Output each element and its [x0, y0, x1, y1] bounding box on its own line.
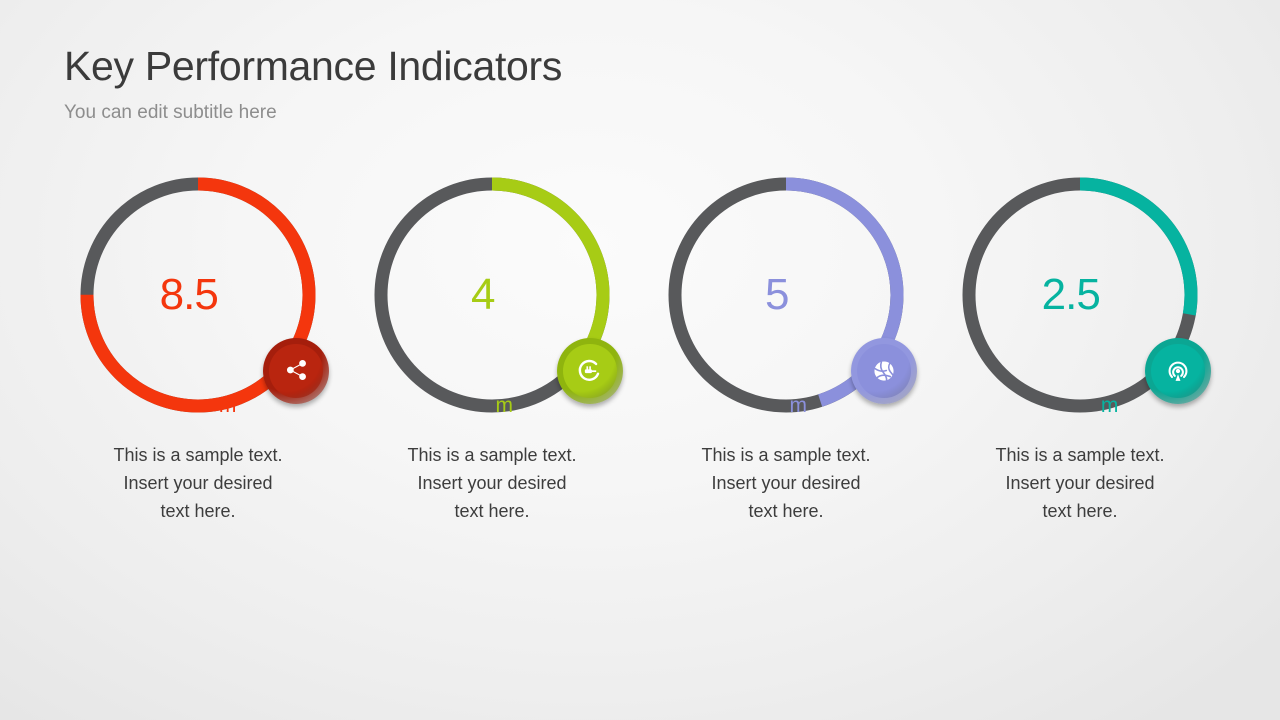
- kpi-badge-2[interactable]: [557, 338, 623, 404]
- caption-line: Insert your desired: [661, 470, 911, 498]
- kpi-card-4[interactable]: 2.5 m This is a sample t: [933, 170, 1227, 526]
- donut-gauge-4[interactable]: 2.5 m: [955, 170, 1205, 420]
- caption-line: Insert your desired: [367, 470, 617, 498]
- page-title: Key Performance Indicators: [64, 44, 562, 90]
- kpi-caption-2: This is a sample text. Insert your desir…: [367, 442, 617, 526]
- kpi-row: 8.5 m This is a sample text. Insert your…: [0, 170, 1280, 526]
- donut-gauge-2[interactable]: 4 m: [367, 170, 617, 420]
- kpi-card-2[interactable]: 4 m: [345, 170, 639, 526]
- kpi-card-1[interactable]: 8.5 m This is a sample text. Insert your…: [51, 170, 345, 526]
- power-plug-icon: [575, 356, 605, 386]
- kpi-badge-1[interactable]: [263, 338, 329, 404]
- caption-line: Insert your desired: [73, 470, 323, 498]
- caption-line: text here.: [955, 498, 1205, 526]
- page-subtitle: You can edit subtitle here: [64, 102, 562, 124]
- badge-inner-ring-2: [563, 344, 617, 398]
- slide-header: Key Performance Indicators You can edit …: [64, 44, 562, 124]
- badge-inner-ring-1: [269, 344, 323, 398]
- kpi-caption-4: This is a sample text. Insert your desir…: [955, 442, 1205, 526]
- globe-icon: [869, 356, 899, 386]
- donut-gauge-3[interactable]: 5 m: [661, 170, 911, 420]
- caption-line: text here.: [73, 498, 323, 526]
- kpi-caption-3: This is a sample text. Insert your desir…: [661, 442, 911, 526]
- caption-line: This is a sample text.: [955, 442, 1205, 470]
- badge-inner-ring-3: [857, 344, 911, 398]
- caption-line: This is a sample text.: [661, 442, 911, 470]
- donut-gauge-1[interactable]: 8.5 m: [73, 170, 323, 420]
- kpi-card-3[interactable]: 5 m Thi: [639, 170, 933, 526]
- badge-inner-ring-4: [1151, 344, 1205, 398]
- caption-line: Insert your desired: [955, 470, 1205, 498]
- kpi-badge-4[interactable]: [1145, 338, 1211, 404]
- kpi-caption-1: This is a sample text. Insert your desir…: [73, 442, 323, 526]
- caption-line: text here.: [661, 498, 911, 526]
- kpi-badge-3[interactable]: [851, 338, 917, 404]
- share-icon: [281, 356, 311, 386]
- broadcast-signal-icon: [1163, 356, 1193, 386]
- caption-line: This is a sample text.: [367, 442, 617, 470]
- caption-line: This is a sample text.: [73, 442, 323, 470]
- caption-line: text here.: [367, 498, 617, 526]
